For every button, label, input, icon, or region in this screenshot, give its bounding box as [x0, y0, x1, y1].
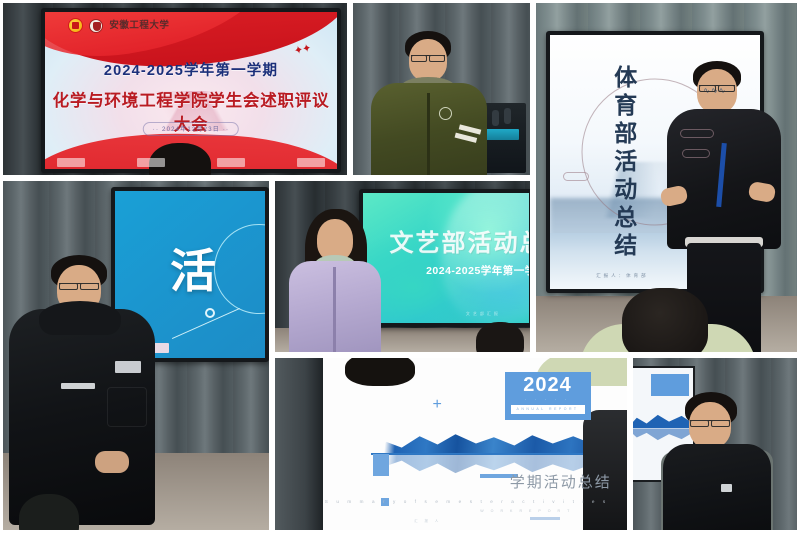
panel-opening-ceremony: 安徽工程大学 ✦✦ 2024-2025学年第一学期 化学与环境工程学院学生会述职… [0, 0, 350, 178]
led-screen: 文艺部活动总结 2024-2025学年第一学期 文艺部汇报 [363, 193, 529, 323]
person-arts-presenter [289, 209, 381, 355]
sports-slide-title: 体育部活动总结 [607, 65, 641, 261]
blue-slide-character: 活 [170, 235, 216, 301]
year-badge-number: 2024 [523, 375, 572, 395]
semester-slide-subtitle2: W O R K R E P O R T [480, 509, 572, 513]
ceremony-date: ·· 2024年12月23日 ·· [143, 122, 239, 136]
university-name: 安徽工程大学 [109, 21, 169, 31]
logo-group: 安徽工程大学 [68, 18, 169, 33]
panel-blue-screen-student: 活 [0, 178, 272, 533]
glasses-icon [690, 420, 730, 421]
year-badge-dots: · · · · · [525, 398, 571, 402]
screen-left-edge [275, 358, 327, 530]
year-badge-bar: ANNUAL REPORT [511, 405, 585, 414]
gear-icon [205, 308, 215, 318]
arts-slide-footer: 文艺部汇报 [466, 311, 501, 317]
person-student-glasses [663, 392, 771, 533]
year-badge: 2024 · · · · · ANNUAL REPORT [505, 372, 591, 420]
jacket-logo-icon [721, 484, 732, 492]
semester-slide-subtitle: S u m m a r y o f s e m e s t e r a c t … [325, 499, 609, 504]
ceremony-subtitle: 2024-2025学年第一学期 [45, 59, 337, 80]
chest-patch-right [115, 361, 141, 373]
sports-slide-footer: 汇报人：体育部 [596, 273, 649, 279]
jacket-zipper [427, 93, 430, 178]
parka-pocket [107, 387, 147, 427]
arts-slide-subtitle: 2024-2025学年第一学期 [426, 263, 529, 278]
chest-patch-left [61, 383, 95, 389]
party-emblem-icon [68, 18, 83, 33]
audience-head-silhouette [476, 322, 524, 355]
decor-line-d [530, 517, 560, 520]
panel-speaker-green-jacket [350, 0, 533, 178]
decorative-scroll-1 [680, 129, 714, 138]
jacket-badge-icon [439, 107, 452, 120]
decorative-scroll-3 [563, 172, 589, 181]
glasses-icon [411, 55, 445, 56]
gradient-swirl [422, 193, 529, 323]
decorative-scroll-2 [682, 149, 710, 158]
black-fleece-jacket [663, 444, 771, 533]
panel-arts-department: 文艺部活动总结 2024-2025学年第一学期 文艺部汇报 [272, 178, 533, 355]
foreground-person-silhouette [583, 410, 629, 530]
led-screen-frame: 文艺部活动总结 2024-2025学年第一学期 文艺部汇报 [359, 189, 533, 327]
semester-slide-footer: 汇 报 人 [414, 518, 441, 523]
panel-semester-summary: + 2024 · · · · · ANNUAL REPORT 学期活动总结 S … [272, 355, 630, 533]
flying-birds-icon: ✦✦ [293, 42, 312, 58]
panel-sports-department: ∿∿∿ 体育部活动总结 汇报人：体育部 [533, 0, 800, 355]
screen-bottom-strip [57, 158, 326, 167]
semester-slide-title: 学期活动总结 [510, 471, 612, 492]
foreground-head-silhouette [345, 355, 415, 386]
audience-head-silhouette [622, 288, 708, 355]
panel-student-glasses: 总结 [630, 355, 800, 533]
photo-collage: 安徽工程大学 ✦✦ 2024-2025学年第一学期 化学与环境工程学院学生会述职… [0, 0, 800, 533]
arts-slide: 文艺部活动总结 2024-2025学年第一学期 文艺部汇报 [363, 193, 529, 323]
parka-hood [39, 301, 121, 335]
university-emblem-icon [89, 19, 103, 33]
glasses-icon [699, 85, 735, 86]
coat-zipper [333, 267, 336, 355]
foreground-head-silhouette [19, 494, 79, 533]
plus-icon: + [432, 396, 441, 414]
glasses-icon [59, 283, 99, 284]
person-dark-coat-student [9, 255, 155, 525]
decorative-ring [214, 224, 265, 314]
clasped-hands [95, 451, 129, 473]
decor-square-a [373, 454, 389, 476]
arts-slide-title: 文艺部活动总结 [390, 223, 529, 258]
person-speaker-green [371, 31, 487, 178]
